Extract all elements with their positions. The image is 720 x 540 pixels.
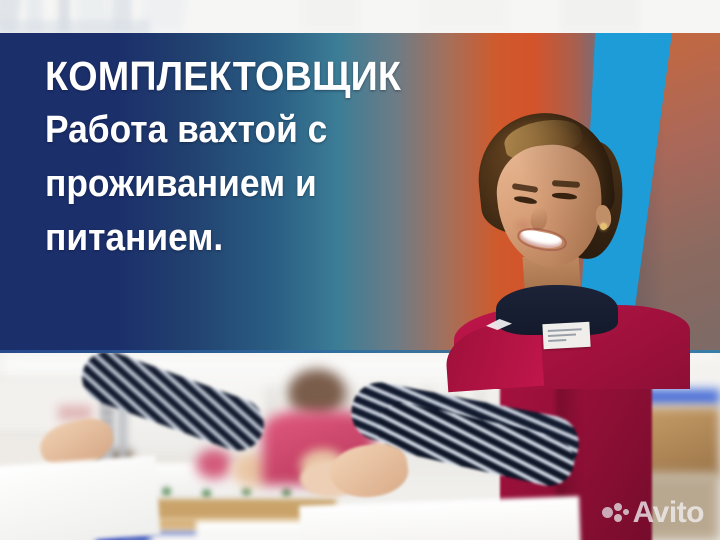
product-dot [162, 487, 171, 496]
blur-shape [560, 0, 640, 32]
avito-dot [602, 507, 613, 518]
product-dot [282, 488, 291, 497]
product-dot [242, 487, 251, 496]
blur-shape [0, 20, 150, 33]
badge-text-line [548, 334, 576, 337]
avito-dot [623, 509, 629, 515]
ad-subtitle-line-2: проживанием и [45, 161, 454, 208]
avito-watermark: Avito [602, 498, 704, 528]
top-photo-strip [0, 0, 720, 33]
name-badge [542, 322, 590, 349]
avito-dot [614, 514, 622, 522]
white-paper-sheet [299, 496, 581, 540]
blur-shape [420, 0, 510, 32]
white-paper-sheet [0, 455, 161, 540]
product-dot [202, 489, 211, 498]
background-worker-head [288, 369, 346, 417]
ad-subtitle-line-1: Работа вахтой с [45, 107, 454, 154]
ad-text-block: КОМПЛЕКТОВЩИК Работа вахтой с проживание… [45, 52, 485, 262]
avito-dot [614, 503, 622, 511]
avito-dots-icon [602, 503, 628, 523]
avito-wordmark: Avito [633, 498, 704, 528]
earring [600, 223, 607, 230]
badge-text-line [548, 328, 582, 332]
ad-headline: КОМПЛЕКТОВЩИК [45, 52, 450, 100]
blur-shape [300, 0, 360, 32]
background-worker-head [196, 449, 232, 479]
ad-subtitle-line-3: питанием. [45, 215, 454, 262]
job-ad-banner: КОМПЛЕКТОВЩИК Работа вахтой с проживание… [0, 0, 720, 540]
badge-text-line [548, 339, 566, 342]
